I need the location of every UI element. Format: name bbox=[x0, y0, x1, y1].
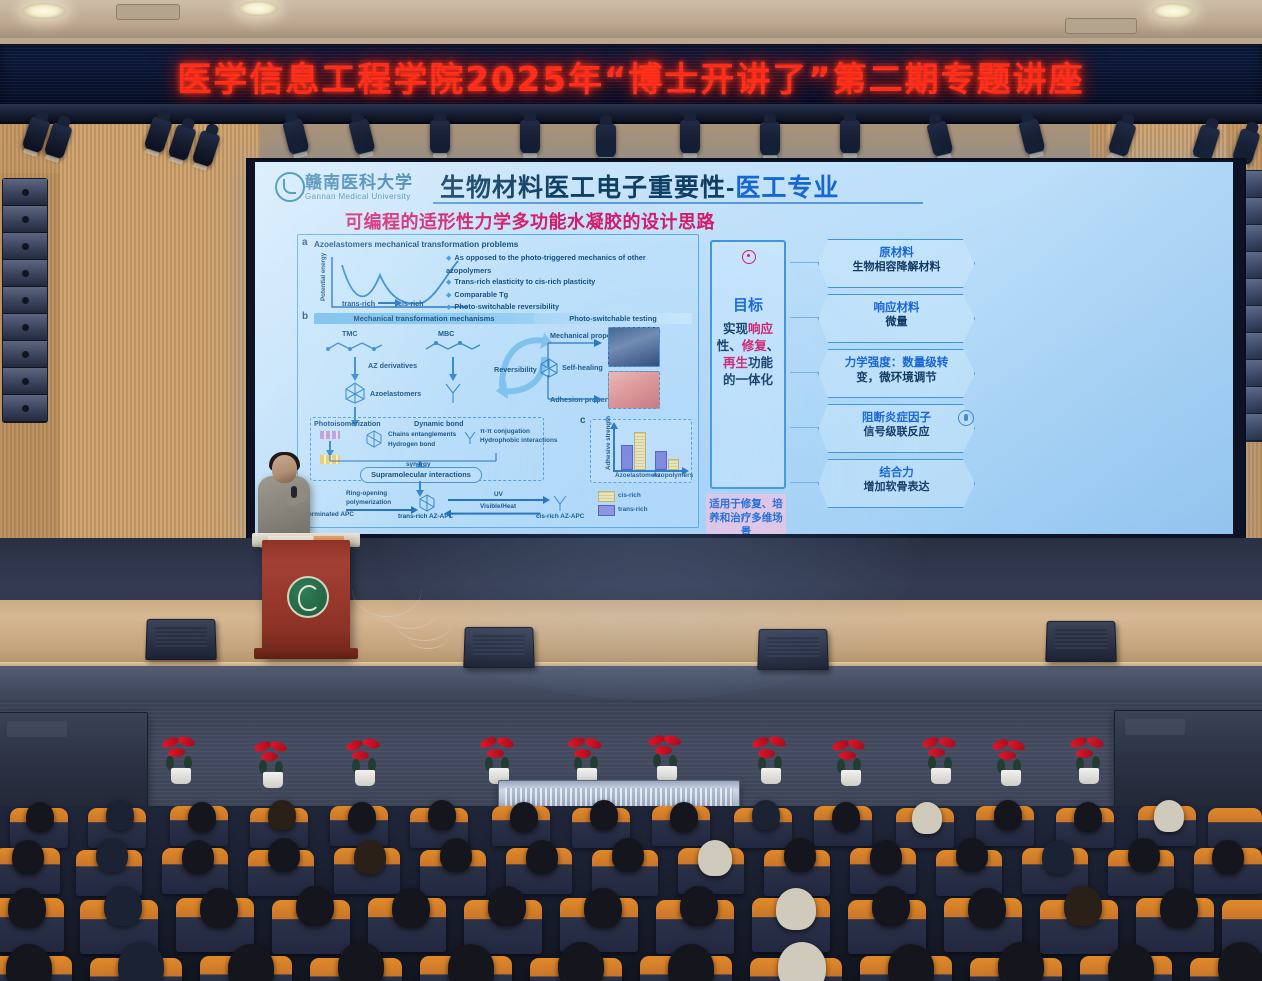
panel-b-band-left: Mechanical transformation mechanisms bbox=[314, 313, 534, 324]
dynamic-bond-label: Dynamic bond bbox=[414, 419, 464, 428]
chart-legend-swatch-cis bbox=[598, 491, 615, 502]
ring-opening-label-1: Ring-opening polymerization bbox=[346, 489, 406, 507]
panel-a-y-axis-label: Potential energy bbox=[320, 253, 327, 301]
chart-y-axis bbox=[613, 428, 615, 470]
feature-body: 信号级联反应 bbox=[819, 425, 974, 439]
panel-b-band-right: Photo-switchable testing bbox=[534, 313, 692, 324]
audience-head bbox=[26, 802, 54, 832]
panel-a-bullet-list: As opposed to the photo-triggered mechan… bbox=[446, 252, 692, 314]
panel-a-bullet: Comparable Tg bbox=[446, 289, 692, 302]
audience-head bbox=[200, 888, 238, 928]
chart-category-azopolymers: Azopolymers bbox=[653, 472, 693, 479]
audience-head bbox=[994, 800, 1022, 830]
audience-head bbox=[354, 840, 386, 874]
trans-state-icon bbox=[320, 431, 340, 439]
audience-head bbox=[228, 944, 274, 981]
stage-monitor bbox=[145, 619, 217, 660]
stage-light bbox=[596, 124, 616, 158]
audience-head bbox=[96, 838, 128, 872]
auditorium-photo: 医学信息工程学院2025年“博士开讲了”第二期专题讲座 赣南医科大学 Ganna… bbox=[0, 0, 1262, 981]
bond-network-icon bbox=[364, 429, 384, 449]
slide-title-main: 生物材料医工电子重要性- bbox=[440, 174, 735, 202]
presenter-head bbox=[272, 455, 297, 483]
panel-a-letter: a bbox=[302, 237, 308, 248]
university-logo-icon bbox=[275, 172, 305, 202]
audience-head bbox=[698, 840, 732, 876]
reaction-arrow-1 bbox=[346, 509, 412, 511]
audience-head bbox=[584, 888, 622, 928]
chart-legend-label-trans: trans-rich bbox=[618, 506, 647, 513]
stage-light bbox=[520, 120, 540, 154]
poinsettia-plant bbox=[646, 734, 688, 782]
bond-term-hydrophobic: Hydrophobic interactions bbox=[480, 437, 557, 444]
chart-bar-azopolymers-trans bbox=[655, 451, 667, 470]
goal-heading: 目标 bbox=[712, 294, 784, 315]
university-name-en: Gannan Medical University bbox=[305, 192, 411, 201]
ceiling-light bbox=[22, 3, 66, 19]
conjugation-icon bbox=[462, 429, 478, 445]
stage-light bbox=[840, 120, 860, 154]
ceiling-light bbox=[238, 1, 278, 16]
adhesion-bar-chart: Adhesive strength Azoelastomers Azopolym… bbox=[590, 419, 692, 483]
chart-legend-swatch-trans bbox=[598, 505, 615, 516]
goal-line3-post: 功能 bbox=[748, 356, 773, 370]
bond-term-conjugation: π-π conjugation bbox=[480, 428, 530, 435]
stage-light bbox=[430, 120, 450, 154]
audience-head bbox=[12, 840, 44, 874]
chart-legend-label-cis: cis-rich bbox=[618, 492, 641, 499]
audience-head bbox=[8, 888, 46, 928]
feature-body: 生物相容降解材料 bbox=[819, 260, 974, 274]
slide-subtitle: 可编程的适形性力学多功能水凝胶的设计思路 bbox=[345, 208, 715, 234]
reversibility-label: Reversibility bbox=[494, 365, 537, 374]
mechanism-arrow-down bbox=[354, 357, 356, 375]
goal-line1-accent: 响应 bbox=[748, 322, 773, 336]
feature-body: 微量 bbox=[819, 315, 974, 329]
step-label-azoelastomers: Azoelastomers bbox=[370, 389, 421, 398]
panel-c-letter: c bbox=[580, 415, 586, 426]
audience-head bbox=[440, 838, 472, 872]
panel-a-bullet: Photo-switchable reversibility bbox=[446, 301, 692, 314]
audience-head bbox=[1064, 886, 1102, 926]
poinsettia-plant bbox=[252, 740, 294, 788]
panel-a-heading: Azoelastomers mechanical transformation … bbox=[314, 240, 518, 249]
podium-base bbox=[254, 648, 358, 659]
audience-head bbox=[1128, 838, 1160, 872]
audience-head bbox=[670, 802, 698, 832]
audience-head bbox=[296, 886, 334, 926]
reaction-arrow-backward bbox=[450, 513, 540, 515]
university-emblem-icon bbox=[287, 576, 329, 618]
handheld-microphone bbox=[291, 486, 297, 498]
feature-box-mechanical-strength: 力学强度：数量级转 变，微环境调节 bbox=[818, 349, 975, 398]
goal-body: 实现响应 性、修复、 再生功能 的一体化 bbox=[712, 321, 784, 389]
audience-head bbox=[680, 886, 718, 926]
audience-head bbox=[1160, 888, 1198, 928]
ceiling-light bbox=[1152, 3, 1194, 19]
stage-light bbox=[760, 122, 780, 156]
poinsettia-plant bbox=[160, 736, 202, 784]
feature-heading: 结合力 bbox=[819, 466, 974, 480]
mbc-structure-icon bbox=[424, 339, 484, 355]
panel-b-letter: b bbox=[302, 311, 308, 322]
audience-head bbox=[870, 840, 902, 874]
presentation-slide: 赣南医科大学 Gannan Medical University 生物材料医工电… bbox=[255, 162, 1233, 534]
chart-bar-azopolymers-cis bbox=[668, 459, 679, 470]
goal-line4: 的一体化 bbox=[723, 373, 773, 387]
banner-text: 医学信息工程学院2025年“博士开讲了”第二期专题讲座 bbox=[0, 52, 1262, 101]
goal-box: 目标 实现响应 性、修复、 再生功能 的一体化 bbox=[710, 240, 786, 489]
audience-head bbox=[776, 888, 816, 930]
ceiling-vent bbox=[116, 4, 180, 20]
audience-head bbox=[106, 800, 134, 830]
feature-box-inflammation-block: 阻断炎症因子 信号级联反应 bbox=[818, 404, 975, 453]
poinsettia-plant bbox=[750, 736, 792, 784]
audience-head bbox=[956, 838, 988, 872]
reaction-entry-arrow bbox=[419, 481, 421, 491]
poinsettia-plant bbox=[478, 736, 520, 784]
chart-bar-azoelastomers-cis bbox=[634, 432, 646, 470]
audience-head bbox=[590, 800, 618, 830]
goal-line2-post: 、 bbox=[767, 339, 780, 353]
stage-cable bbox=[408, 626, 448, 649]
supramolecular-pill: Supramolecular interactions bbox=[360, 467, 482, 483]
feature-box-responsive-material: 响应材料 微量 bbox=[818, 294, 975, 343]
mechanism-arrow-down bbox=[452, 357, 454, 375]
cis-network-icon bbox=[440, 381, 466, 405]
audience-head bbox=[752, 800, 780, 830]
stage-light bbox=[680, 120, 700, 154]
stage-monitor bbox=[1045, 621, 1117, 662]
audience-head bbox=[268, 800, 296, 830]
reaction-start-label: -terminated APC bbox=[304, 511, 354, 518]
audience-head bbox=[268, 838, 300, 872]
audience-head bbox=[348, 802, 376, 832]
audience-head bbox=[1218, 942, 1262, 981]
audience-head bbox=[188, 802, 216, 832]
goal-marker-icon bbox=[742, 250, 756, 264]
audience-head bbox=[832, 802, 860, 832]
audience-head bbox=[612, 838, 644, 872]
audience-head bbox=[998, 942, 1044, 981]
reaction-arrow-forward bbox=[448, 499, 544, 501]
stage-monitor bbox=[757, 629, 829, 670]
monomer-label-mbc: MBC bbox=[438, 329, 454, 338]
panel-a-connector-arrow bbox=[378, 302, 396, 304]
bond-term-hydrogen: Hydrogen bond bbox=[388, 441, 435, 448]
figure-panel: a Azoelastomers mechanical transformatio… bbox=[297, 234, 699, 528]
led-banner: 医学信息工程学院2025年“博士开讲了”第二期专题讲座 bbox=[0, 44, 1262, 106]
panel-a-bullet: Trans-rich elasticity to cis-rich plasti… bbox=[446, 276, 692, 289]
audience-head bbox=[968, 888, 1006, 928]
slide-corner-icon bbox=[958, 410, 974, 426]
university-name-cn: 赣南医科大学 bbox=[305, 168, 413, 193]
poinsettia-plant bbox=[920, 736, 962, 784]
feature-heading: 阻断炎症因子 bbox=[819, 411, 974, 425]
audience-head bbox=[872, 886, 910, 926]
azoelastomer-network-icon bbox=[342, 381, 368, 405]
audience-area bbox=[0, 806, 1262, 981]
chart-bar-azoelastomers-trans bbox=[621, 445, 633, 470]
podium bbox=[262, 540, 350, 658]
poinsettia-plant bbox=[830, 738, 872, 786]
feature-heading: 原材料 bbox=[819, 246, 974, 260]
feature-body: 变，微环境调节 bbox=[819, 371, 974, 386]
poinsettia-plant bbox=[990, 738, 1032, 786]
audience-head bbox=[784, 838, 816, 872]
stage-monitor bbox=[463, 627, 535, 668]
goal-line2-accent: 修复 bbox=[742, 339, 767, 353]
bond-term-entanglements: Chains entanglements bbox=[388, 431, 456, 438]
ceiling-vent bbox=[1065, 18, 1137, 34]
audience-head bbox=[888, 944, 934, 981]
line-array-speaker-left bbox=[2, 178, 48, 423]
application-note: 适用于修复、培养和治疗多维场景 bbox=[706, 494, 786, 534]
goal-line3-accent: 再生 bbox=[723, 356, 748, 370]
hex-connector bbox=[790, 372, 818, 373]
goal-line2-pre: 性、 bbox=[717, 339, 742, 353]
trans-rich-azapc-icon bbox=[416, 493, 438, 513]
audience-head bbox=[182, 840, 214, 874]
reaction-forward-label: UV bbox=[494, 491, 503, 498]
adhesion-test-photo bbox=[608, 371, 660, 409]
reaction-backward-label: Visible/Heat bbox=[480, 503, 516, 510]
feature-box-raw-material: 原材料 生物相容降解材料 bbox=[818, 239, 975, 288]
audience-head bbox=[428, 800, 456, 830]
poinsettia-plant bbox=[344, 738, 386, 786]
panel-a-bullet: As opposed to the photo-triggered mechan… bbox=[446, 252, 692, 276]
audience-head bbox=[1074, 802, 1102, 832]
audience-head bbox=[1154, 800, 1184, 832]
feature-heading: 响应材料 bbox=[819, 301, 974, 315]
panel-a-curve-label-trans: trans-rich bbox=[342, 299, 375, 308]
audience-head bbox=[510, 802, 538, 832]
hex-connector bbox=[790, 317, 818, 318]
mechanical-test-photo bbox=[608, 327, 660, 367]
poinsettia-plant bbox=[1068, 736, 1110, 784]
cis-rich-azapc-icon bbox=[550, 493, 570, 513]
audience-head bbox=[392, 888, 430, 928]
slide-title: 生物材料医工电子重要性-医工专业 bbox=[440, 168, 839, 204]
hex-connector bbox=[790, 482, 818, 483]
chart-y-axis-label: Adhesive strength bbox=[605, 416, 612, 470]
audience-head bbox=[488, 886, 526, 926]
audience-head bbox=[526, 840, 558, 874]
hex-connector bbox=[790, 427, 818, 428]
monomer-label-tmc: TMC bbox=[342, 329, 358, 338]
feature-heading: 力学强度：数量级转 bbox=[819, 356, 974, 371]
feature-box-binding-force: 结合力 增加软骨表达 bbox=[818, 459, 975, 508]
title-underline bbox=[433, 202, 923, 204]
slide-title-accent: 医工专业 bbox=[735, 174, 839, 202]
audience-head bbox=[1212, 840, 1244, 874]
audience-head bbox=[1042, 840, 1074, 874]
photoisomerization-label: Photoisomerization bbox=[314, 419, 381, 428]
subwoofer-right bbox=[1114, 710, 1262, 808]
hex-connector bbox=[790, 262, 818, 263]
step-label-az-derivatives: AZ derivatives bbox=[368, 361, 417, 370]
reaction-end-label: cis-rich AZ-APC bbox=[536, 513, 584, 520]
tmc-structure-icon bbox=[326, 339, 386, 355]
poinsettia-plant bbox=[566, 736, 608, 784]
audience-head bbox=[104, 886, 142, 926]
audience-head bbox=[912, 802, 942, 834]
goal-line1-pre: 实现 bbox=[723, 322, 748, 336]
subwoofer-left bbox=[0, 712, 148, 810]
feature-body: 增加软骨表达 bbox=[819, 480, 974, 494]
